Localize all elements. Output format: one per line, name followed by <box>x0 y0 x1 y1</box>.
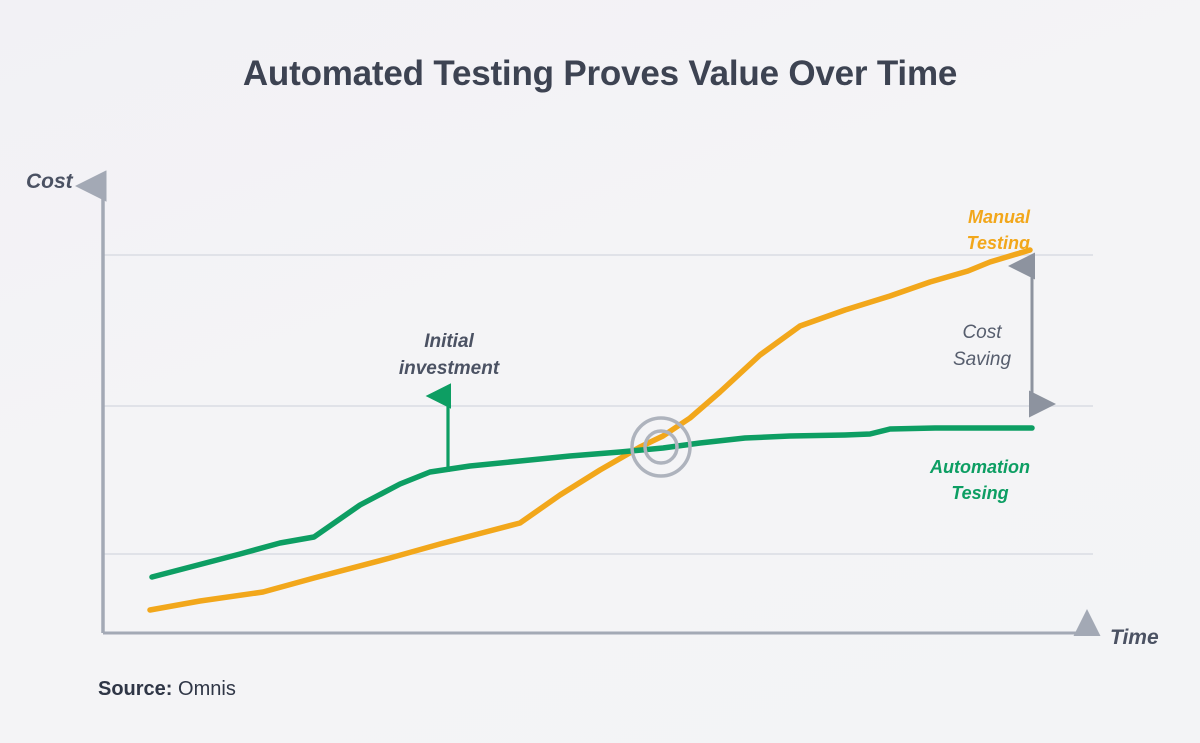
y-axis-label: Cost <box>26 170 73 194</box>
source-value: Omnis <box>178 678 236 700</box>
source-prefix: Source: <box>98 678 172 700</box>
series-label-automation-testing: Automation Tesing <box>890 454 1070 506</box>
source-note: Source: Omnis <box>98 678 236 701</box>
chart-canvas: Automated Testing Proves Value Over Time <box>0 0 1200 743</box>
annotation-initial-investment: Initial investment <box>370 328 528 382</box>
x-axis-label: Time <box>1110 626 1159 650</box>
gridlines <box>103 255 1093 554</box>
annotation-cost-saving: Cost Saving <box>930 319 1034 373</box>
series-label-manual-testing: Manual Testing <box>920 204 1030 256</box>
